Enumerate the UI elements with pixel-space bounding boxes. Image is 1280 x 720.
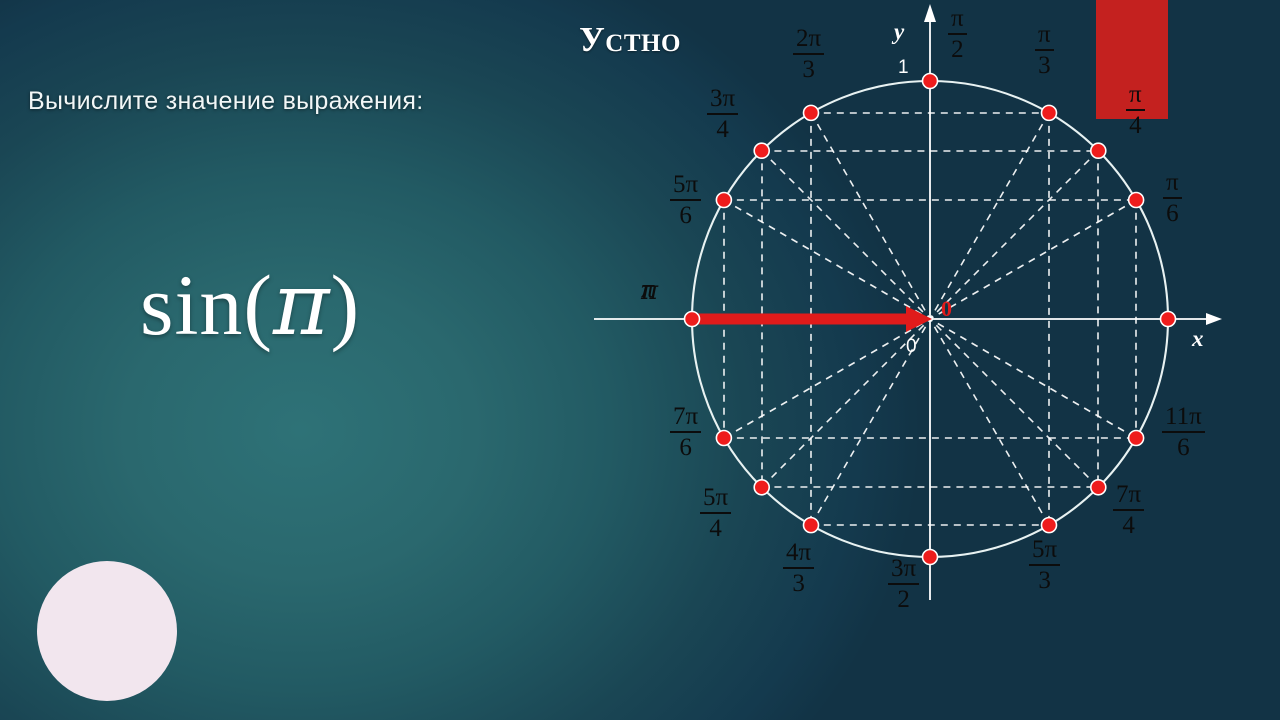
angle-label-74: 7π4 [1113, 482, 1144, 540]
y-axis-arrowhead [924, 4, 936, 22]
angle-point-43[interactable] [804, 518, 819, 533]
slide-canvas: Устно Вычислите значение выражения: sin(… [0, 0, 1280, 720]
angle-label-4: π4 [1126, 82, 1145, 140]
angle-point-2[interactable] [923, 74, 938, 89]
angle-arrow-head [906, 306, 932, 332]
angle-point-74[interactable] [1091, 480, 1106, 495]
highlighted-angle-label: π [641, 278, 658, 304]
unit-circle-figure [0, 0, 1280, 720]
angle-label-32: 3π2 [888, 556, 919, 614]
angle-arrow-layer [692, 306, 932, 332]
angle-point-6[interactable] [1129, 193, 1144, 208]
angle-point-0[interactable] [1161, 312, 1176, 327]
angle-point-23[interactable] [804, 105, 819, 120]
x-axis-arrowhead [1206, 313, 1222, 325]
angle-label-76: 7π6 [670, 404, 701, 462]
angle-label-23: 2π3 [793, 26, 824, 84]
origin-label: 0 [906, 337, 917, 356]
angle-point-116[interactable] [1129, 431, 1144, 446]
angle-label-53: 5π3 [1029, 537, 1060, 595]
angle-label-3: π3 [1035, 22, 1054, 80]
angle-point-4[interactable] [1091, 143, 1106, 158]
y-axis-tick-one: 1 [898, 58, 909, 77]
zero-angle-marker: 0 [941, 298, 952, 320]
angle-label-34: 3π4 [707, 86, 738, 144]
angle-label-2: π2 [948, 6, 967, 64]
angle-point-56[interactable] [716, 193, 731, 208]
angle-label-54: 5π4 [700, 485, 731, 543]
angle-label-56: 5π6 [670, 172, 701, 230]
angle-point-54[interactable] [754, 480, 769, 495]
angle-label-116: 11π6 [1162, 404, 1205, 462]
angle-point-[interactable] [685, 312, 700, 327]
x-axis-label: x [1192, 327, 1204, 350]
angle-point-32[interactable] [923, 550, 938, 565]
angle-point-53[interactable] [1042, 518, 1057, 533]
angle-label-43: 4π3 [783, 540, 814, 598]
y-axis-label: y [894, 20, 904, 43]
angle-label-6: π6 [1163, 170, 1182, 228]
angle-point-3[interactable] [1042, 105, 1057, 120]
angle-point-34[interactable] [754, 143, 769, 158]
angle-point-76[interactable] [716, 431, 731, 446]
